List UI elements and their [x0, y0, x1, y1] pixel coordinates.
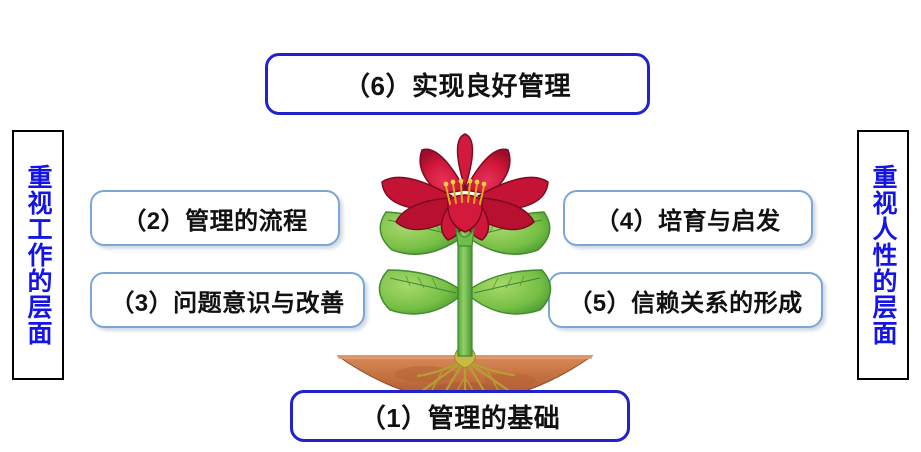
- box-2-label: （2）管理的流程: [122, 201, 307, 236]
- box-6-label: （6）实现良好管理: [344, 66, 571, 103]
- diagram-canvas: （6）实现良好管理 重视工作的层面 重视人性的层面 （2）管理的流程 （3）问题…: [0, 0, 921, 452]
- box-5-label: （5）信赖关系的形成: [568, 283, 802, 318]
- box-1-label: （1）管理的基础: [360, 398, 560, 435]
- box-2-management-process[interactable]: （2）管理的流程: [90, 190, 340, 246]
- box-3-problem-awareness-improvement[interactable]: （3）问题意识与改善: [90, 272, 365, 328]
- box-3-label: （3）问题意识与改善: [110, 283, 344, 318]
- leaf-lower-right: [472, 270, 551, 314]
- right-panel-label: 重视人性的层面: [869, 164, 897, 346]
- left-panel-work-dimension: 重视工作的层面: [12, 130, 64, 380]
- right-panel-humanity-dimension: 重视人性的层面: [857, 130, 909, 380]
- leaf-lower-left: [379, 270, 458, 314]
- left-panel-label: 重视工作的层面: [24, 164, 52, 346]
- box-4-cultivation-inspiration[interactable]: （4）培育与启发: [563, 190, 813, 246]
- flower: [382, 134, 548, 240]
- flowering-plant-illustration: [330, 128, 600, 403]
- box-6-achieve-good-management[interactable]: （6）实现良好管理: [265, 53, 650, 115]
- box-4-label: （4）培育与启发: [595, 201, 780, 236]
- box-1-management-foundation[interactable]: （1）管理的基础: [290, 390, 630, 442]
